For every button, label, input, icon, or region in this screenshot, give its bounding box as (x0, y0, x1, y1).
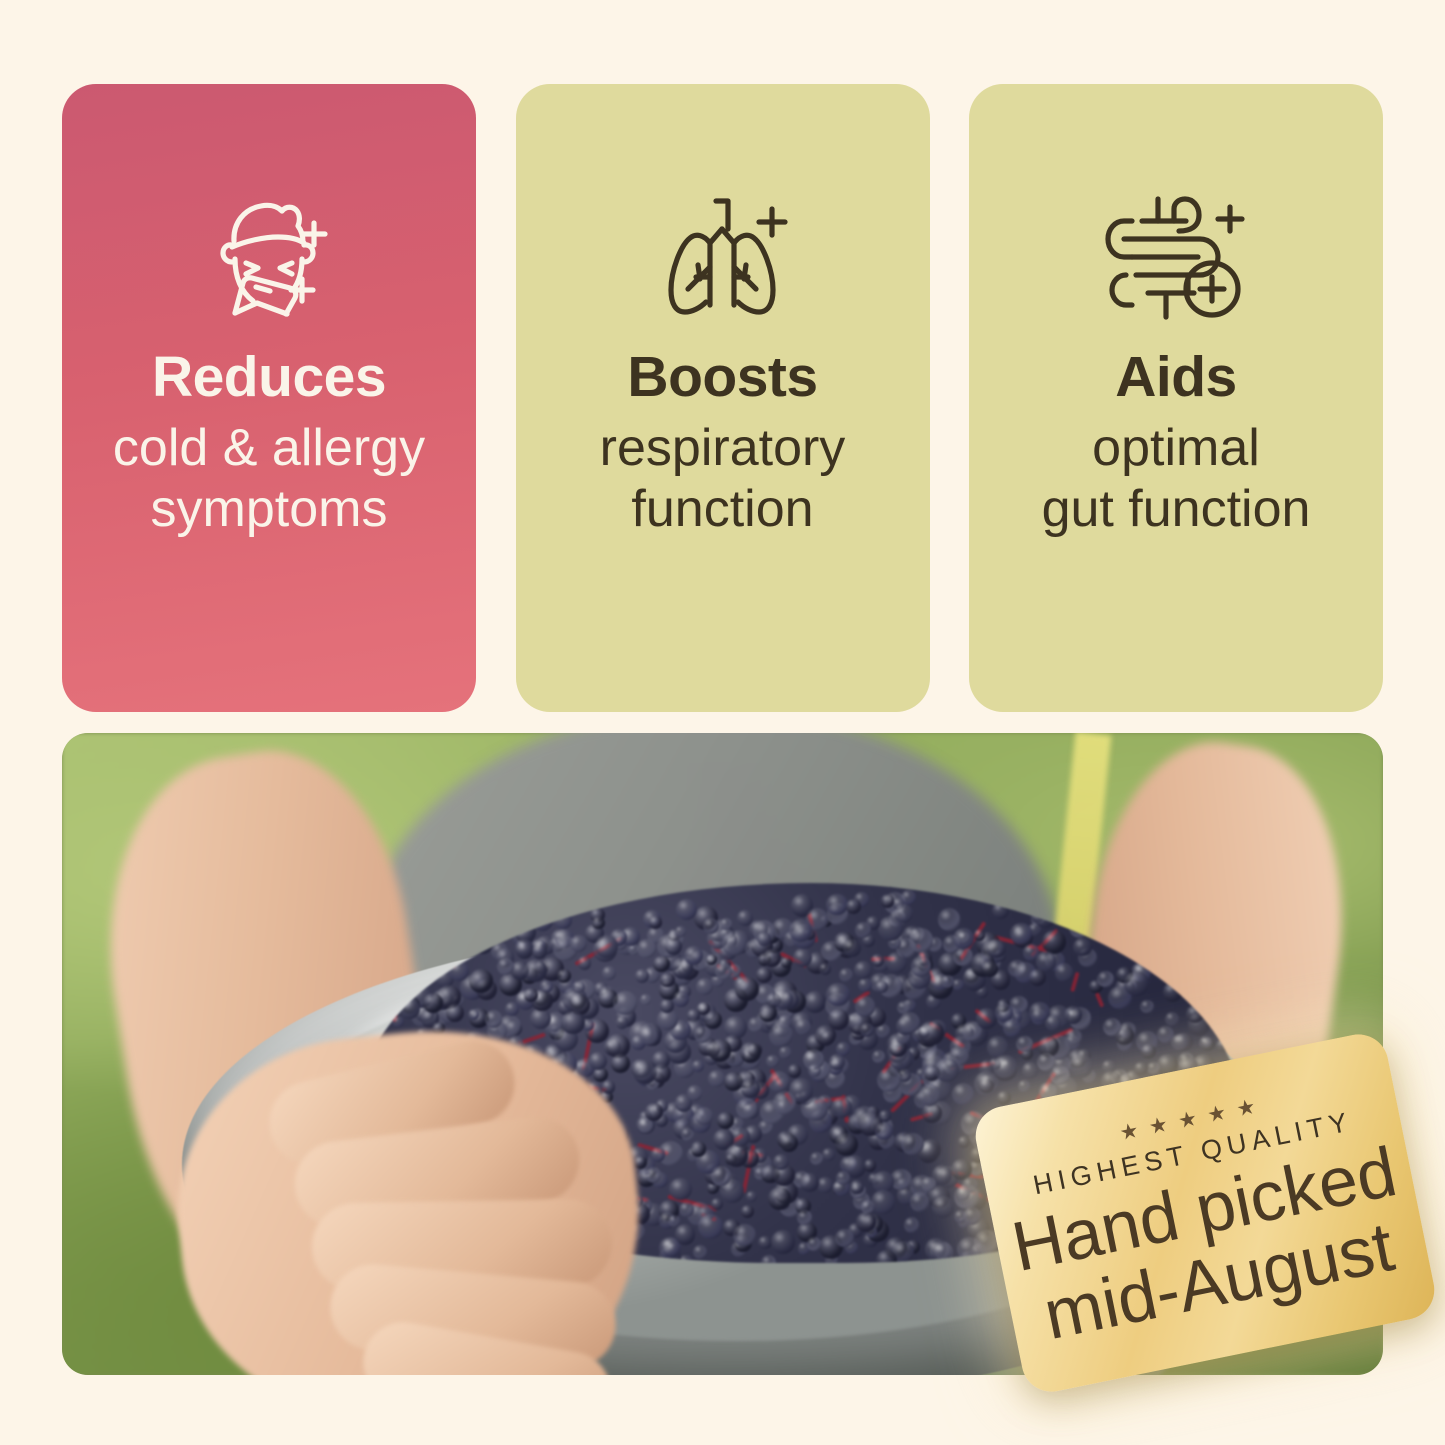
benefit-desc-line: respiratory (600, 418, 846, 479)
benefit-desc-line: function (600, 479, 846, 540)
benefit-card-title: Boosts (627, 348, 817, 408)
benefit-desc-line: cold & allergy (113, 418, 425, 479)
benefit-card-boosts: Boosts respiratory function (516, 84, 930, 712)
intestine-plus-icon (969, 180, 1383, 330)
lungs-plus-icon (516, 180, 930, 330)
product-benefits-infographic: Reduces cold & allergy symptoms (0, 0, 1445, 1445)
benefit-card-reduces: Reduces cold & allergy symptoms (62, 84, 476, 712)
sneezing-face-tissue-icon (62, 180, 476, 330)
benefit-desc-line: symptoms (113, 479, 425, 540)
benefit-card-description: cold & allergy symptoms (101, 418, 437, 541)
benefit-card-description: optimal gut function (1030, 418, 1323, 541)
benefit-card-aids: Aids optimal gut function (969, 84, 1383, 712)
benefit-cards-row: Reduces cold & allergy symptoms (62, 84, 1383, 712)
benefit-card-description: respiratory function (588, 418, 858, 541)
benefit-card-title: Aids (1115, 348, 1237, 408)
benefit-card-title: Reduces (152, 348, 386, 408)
benefit-desc-line: gut function (1042, 479, 1311, 540)
benefit-desc-line: optimal (1042, 418, 1311, 479)
